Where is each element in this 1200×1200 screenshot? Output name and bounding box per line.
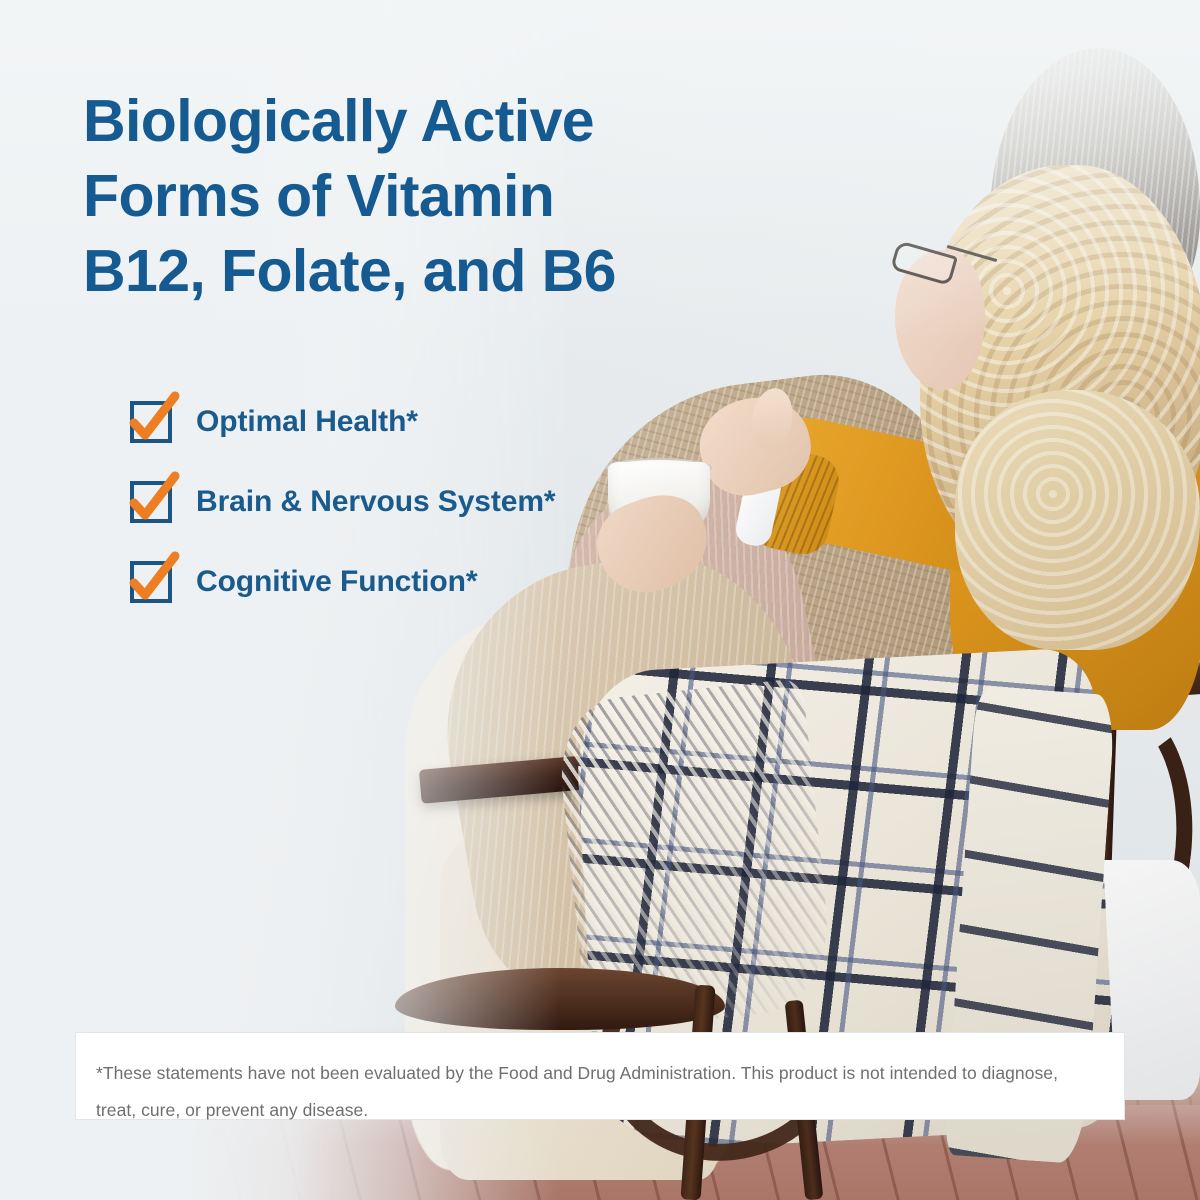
checked-checkbox-icon	[130, 401, 172, 443]
list-item-label: Brain & Nervous System*	[196, 485, 556, 519]
headline-line-2: Forms of Vitamin	[83, 159, 783, 234]
list-item-label: Optimal Health*	[196, 405, 418, 439]
list-item: Optimal Health*	[130, 382, 750, 462]
headline-line-3: B12, Folate, and B6	[83, 234, 783, 309]
checked-checkbox-icon	[130, 481, 172, 523]
disclaimer-text: *These statements have not been evaluate…	[96, 1055, 1098, 1129]
list-item: Brain & Nervous System*	[130, 462, 750, 542]
womans-hair-lower-curls	[955, 390, 1200, 650]
promotional-banner: Biologically Active Forms of Vitamin B12…	[0, 0, 1200, 1200]
benefits-list: Optimal Health* Brain & Nervous System* …	[130, 382, 750, 622]
disclaimer-box: *These statements have not been evaluate…	[75, 1032, 1125, 1120]
list-item: Cognitive Function*	[130, 542, 750, 622]
list-item-label: Cognitive Function*	[196, 565, 477, 599]
checked-checkbox-icon	[130, 561, 172, 603]
headline-line-1: Biologically Active	[83, 84, 783, 159]
page-title: Biologically Active Forms of Vitamin B12…	[83, 84, 783, 309]
